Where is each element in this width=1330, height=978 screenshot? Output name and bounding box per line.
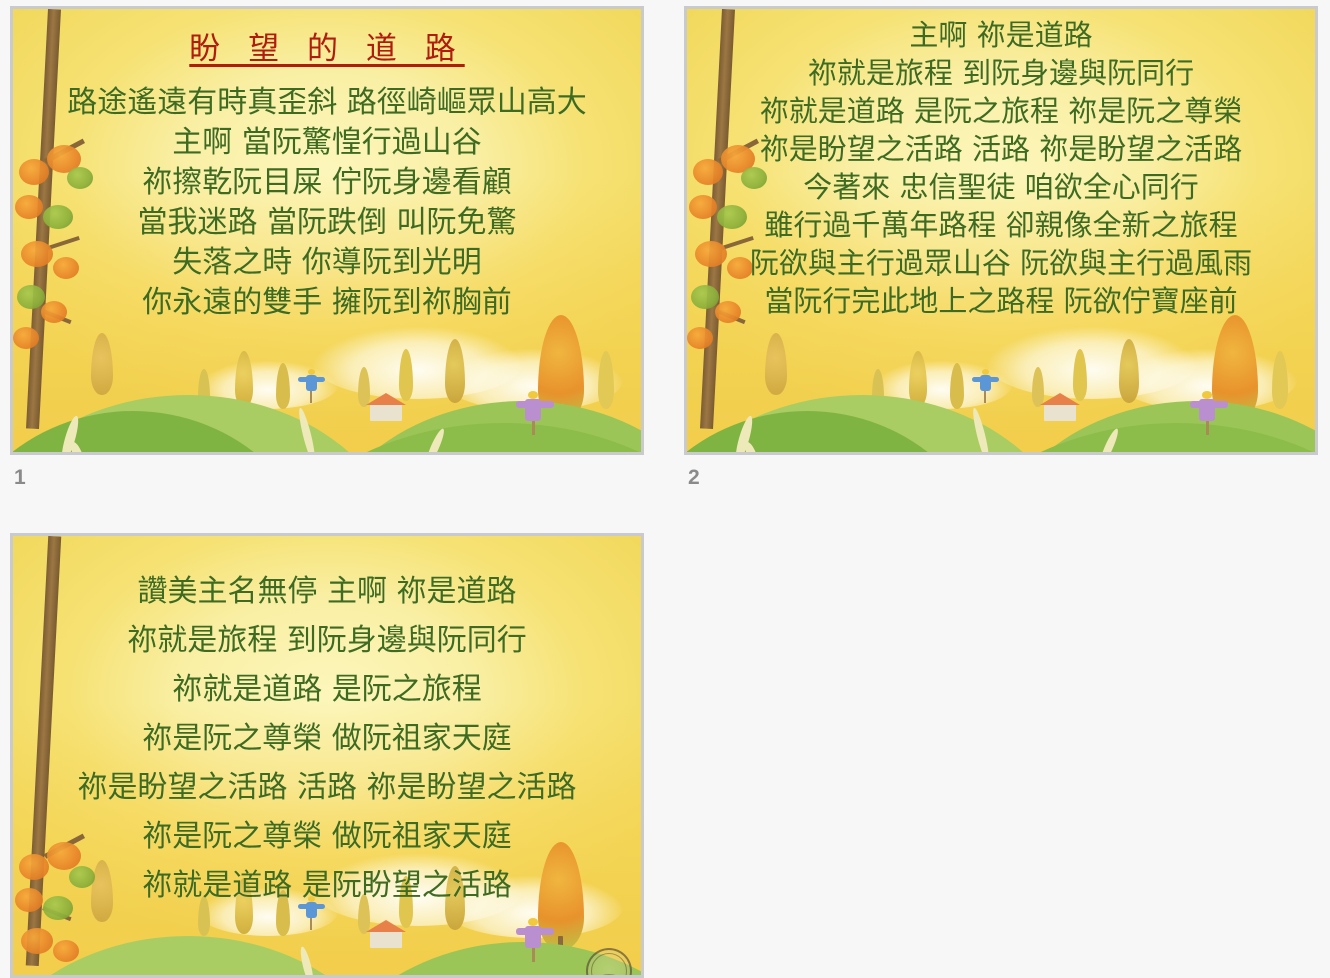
lyric-line: 祢就是道路 是阮之旅程 祢是阮之尊榮	[760, 93, 1242, 130]
lyric-line: 祢就是旅程 到阮身邊與阮同行	[808, 55, 1194, 92]
slide-number-1: 1	[14, 466, 26, 490]
lyric-line: 祢是盼望之活路 活路 祢是盼望之活路	[760, 131, 1242, 168]
lyric-line: 路途遙遠有時真歪斜 路徑崎嶇眾山高大	[67, 84, 587, 122]
lyric-line: 主啊 祢是道路	[909, 17, 1092, 54]
slide-thumbnail-3[interactable]: 讚美主名無停 主啊 祢是道路 祢就是旅程 到阮身邊與阮同行 祢就是道路 是阮之旅…	[10, 533, 644, 978]
lyric-line: 當我迷路 當阮跌倒 叫阮免驚	[137, 204, 516, 242]
slide-thumbnail-1[interactable]: 盼 望 的 道 路 路途遙遠有時真歪斜 路徑崎嶇眾山高大 主啊 當阮驚惶行過山谷…	[10, 6, 644, 491]
lyric-line: 主啊 當阮驚惶行過山谷	[172, 124, 482, 162]
lyric-line: 你永遠的雙手 擁阮到祢胸前	[142, 284, 512, 322]
lyric-line: 祢擦乾阮目屎 佇阮身邊看顧	[142, 164, 512, 202]
lyric-line: 祢是阮之尊榮 做阮祖家天庭	[142, 717, 512, 760]
lyric-line: 祢是盼望之活路 活路 祢是盼望之活路	[77, 766, 576, 809]
lyric-line: 失落之時 你導阮到光明	[172, 244, 482, 282]
slide-title: 盼 望 的 道 路	[189, 23, 464, 68]
lyric-line: 祢就是道路 是阮之旅程	[172, 668, 482, 711]
lyrics-block: 路途遙遠有時真歪斜 路徑崎嶇眾山高大 主啊 當阮驚惶行過山谷 祢擦乾阮目屎 佇阮…	[67, 84, 587, 322]
lyric-line: 雖行過千萬年路程 卻親像全新之旅程	[764, 207, 1237, 244]
slide-number-2: 2	[688, 466, 700, 490]
lyric-line: 祢就是旅程 到阮身邊與阮同行	[127, 619, 527, 662]
lyric-line: 今著來 忠信聖徒 咱欲全心同行	[803, 169, 1198, 206]
slide-surface-3[interactable]: 讚美主名無停 主啊 祢是道路 祢就是旅程 到阮身邊與阮同行 祢就是道路 是阮之旅…	[10, 533, 644, 978]
slide-text-2: 主啊 祢是道路 祢就是旅程 到阮身邊與阮同行 祢就是道路 是阮之旅程 祢是阮之尊…	[687, 9, 1315, 452]
lyrics-block: 主啊 祢是道路 祢就是旅程 到阮身邊與阮同行 祢就是道路 是阮之旅程 祢是阮之尊…	[750, 17, 1252, 320]
lyric-line: 祢就是道路 是阮盼望之活路	[142, 864, 512, 907]
slide-text-3: 讚美主名無停 主啊 祢是道路 祢就是旅程 到阮身邊與阮同行 祢就是道路 是阮之旅…	[13, 536, 641, 975]
slide-sorter-canvas: 盼 望 的 道 路 路途遙遠有時真歪斜 路徑崎嶇眾山高大 主啊 當阮驚惶行過山谷…	[0, 0, 1330, 978]
slide-surface-1[interactable]: 盼 望 的 道 路 路途遙遠有時真歪斜 路徑崎嶇眾山高大 主啊 當阮驚惶行過山谷…	[10, 6, 644, 455]
slide-thumbnail-2[interactable]: 主啊 祢是道路 祢就是旅程 到阮身邊與阮同行 祢就是道路 是阮之旅程 祢是阮之尊…	[684, 6, 1318, 491]
lyric-line: 當阮行完此地上之路程 阮欲佇寶座前	[764, 283, 1237, 320]
slide-surface-2[interactable]: 主啊 祢是道路 祢就是旅程 到阮身邊與阮同行 祢就是道路 是阮之旅程 祢是阮之尊…	[684, 6, 1318, 455]
slide-text-1: 盼 望 的 道 路 路途遙遠有時真歪斜 路徑崎嶇眾山高大 主啊 當阮驚惶行過山谷…	[13, 9, 641, 452]
lyric-line: 祢是阮之尊榮 做阮祖家天庭	[142, 815, 512, 858]
lyric-line: 讚美主名無停 主啊 祢是道路	[137, 570, 516, 613]
lyrics-block: 讚美主名無停 主啊 祢是道路 祢就是旅程 到阮身邊與阮同行 祢就是道路 是阮之旅…	[77, 570, 576, 907]
lyric-line: 阮欲與主行過眾山谷 阮欲與主行過風雨	[750, 245, 1252, 282]
